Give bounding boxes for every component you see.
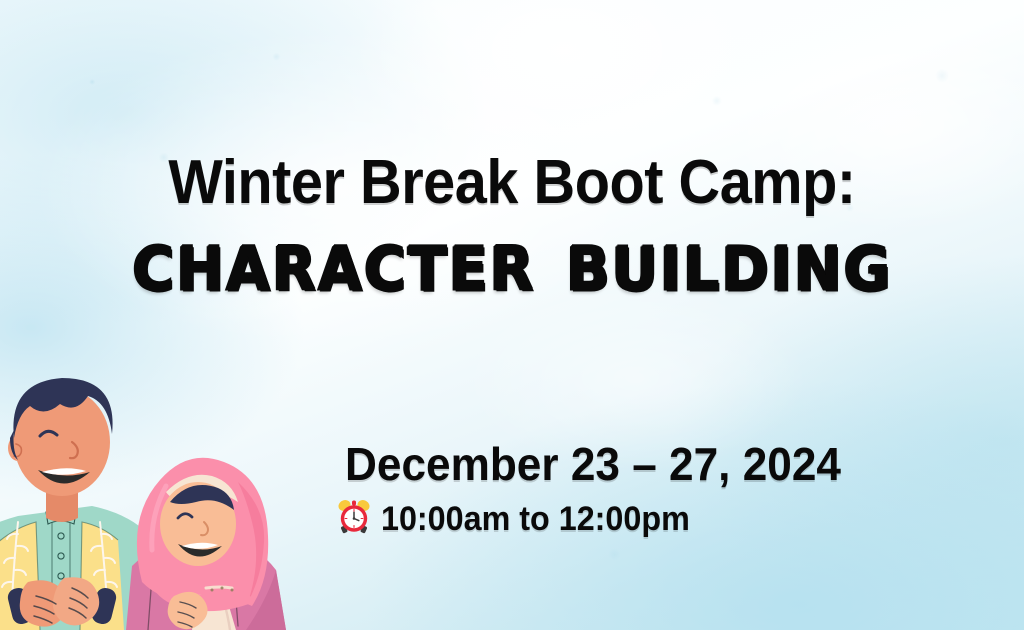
alarm-clock-icon: [337, 498, 371, 539]
girl-figure: [126, 458, 286, 630]
page-title-line1: Winter Break Boot Camp:: [36, 150, 988, 216]
headline-block: Winter Break Boot Camp: Character Buildi…: [0, 150, 1024, 304]
poster-canvas: Winter Break Boot Camp: Character Buildi…: [0, 0, 1024, 630]
page-title-line2: Character Building: [0, 215, 1024, 306]
event-time: 10:00am to 12:00pm: [381, 500, 690, 538]
event-date: December 23 – 27, 2024: [345, 438, 841, 490]
two-children-illustration: [0, 330, 340, 630]
event-time-row: 10:00am to 12:00pm: [337, 498, 862, 539]
schedule-block: December 23 – 27, 2024: [345, 438, 862, 539]
